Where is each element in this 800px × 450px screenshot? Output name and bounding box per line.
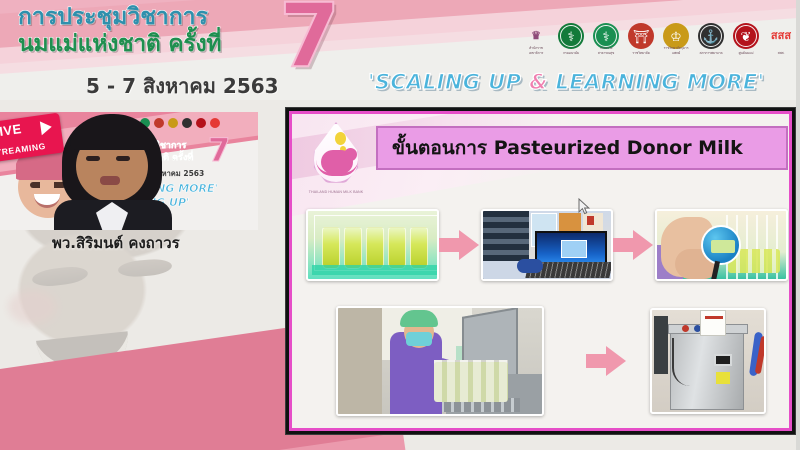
process-row-bottom	[336, 302, 766, 420]
conference-title-line2: นมแม่แห่งชาติ ครั้งที่	[18, 29, 318, 59]
process-row-top	[306, 206, 788, 284]
slide-title-banner: ขั้นตอนการ Pasteurized Donor Milk	[376, 126, 788, 170]
poster-edition-number: 7	[208, 134, 230, 166]
conference-title: การประชุมวิชาการ นมแม่แห่งชาติ ครั้งที่	[18, 2, 318, 59]
ministry-of-public-health-logo: ⚕กรมอนามัย	[558, 23, 584, 49]
organizer-logos: ♛สำนักราชเลขาธิการ ⚕กรมอนามัย ⚕กระทรวงสา…	[523, 23, 794, 49]
royal-college-logo: ♔ราชวิทยาลัยกุมารแพทย์	[663, 23, 689, 49]
step-photo-nurse-pasteurizer[interactable]	[336, 306, 544, 416]
speaker-name: พว.สิริมนต์ คงถาวร	[52, 231, 282, 255]
conference-dates: 5 - 7 สิงหาคม 2563	[86, 70, 279, 100]
health-department-logo: ⚕กระทรวงสาธารณสุข	[593, 23, 619, 49]
logo-caption: ราชวิทยาลัย	[628, 51, 654, 56]
thai-pediatric-society-logo: ⛩ราชวิทยาลัย	[628, 23, 654, 49]
logo-caption: สำนักราชเลขาธิการ	[523, 46, 549, 56]
edition-number: 7	[279, 0, 340, 80]
presentation-slide-panel[interactable]: THAILAND HUMAN MILK BANK ขั้นตอนการ Past…	[286, 108, 795, 434]
logo-caption: กระทรวงสาธารณสุข	[593, 46, 619, 56]
step-photo-donor-milk-bottles[interactable]	[306, 209, 439, 281]
step-photo-storage-freezer[interactable]	[650, 308, 766, 414]
live-badge-label: LIVE	[0, 121, 23, 140]
slide-background: THAILAND HUMAN MILK BANK ขั้นตอนการ Past…	[292, 114, 789, 428]
right-gutter	[796, 0, 800, 450]
royal-thai-emblem-logo: ♛สำนักราชเลขาธิการ	[523, 23, 549, 49]
mouse-pointer	[578, 198, 592, 216]
conference-title-line1: การประชุมวิชาการ	[18, 4, 208, 30]
slide-logo-caption: THAILAND HUMAN MILK BANK	[300, 190, 372, 194]
human-milk-bank-drop-logo: THAILAND HUMAN MILK BANK	[302, 120, 370, 194]
logo-caption: ศูนย์นมแม่	[733, 51, 759, 56]
process-arrow-3	[586, 344, 628, 378]
tagline-pre: 'SCALING UP	[368, 70, 529, 94]
speaker-portrait	[52, 112, 174, 230]
thaihealth-sss-logo: สสสสสส.	[768, 23, 794, 49]
process-arrow-2	[613, 228, 655, 262]
logo-caption: ราชวิทยาลัยกุมารแพทย์	[663, 46, 689, 56]
screen-root: การประชุมวิชาการ นมแม่แห่งชาติ ครั้งที่ …	[0, 0, 800, 450]
thai-breastfeeding-centre-logo: ❦ศูนย์นมแม่	[733, 23, 759, 49]
conference-header: การประชุมวิชาการ นมแม่แห่งชาติ ครั้งที่ …	[0, 0, 800, 100]
logo-caption: สสส.	[768, 51, 794, 56]
tagline-ampersand: &	[529, 70, 548, 94]
conference-tagline: 'SCALING UP & LEARNING MORE'	[368, 70, 764, 94]
step-photo-laptop-screening-record[interactable]	[481, 209, 612, 281]
nursing-council-logo: ⚓สภาการพยาบาล	[698, 23, 724, 49]
logo-caption: สภาการพยาบาล	[698, 51, 724, 56]
logo-caption: กรมอนามัย	[558, 51, 584, 56]
step-photo-temperature-probe[interactable]	[655, 209, 788, 281]
play-icon	[40, 120, 53, 135]
process-arrow-1	[439, 228, 481, 262]
tagline-post: LEARNING MORE'	[548, 70, 765, 94]
